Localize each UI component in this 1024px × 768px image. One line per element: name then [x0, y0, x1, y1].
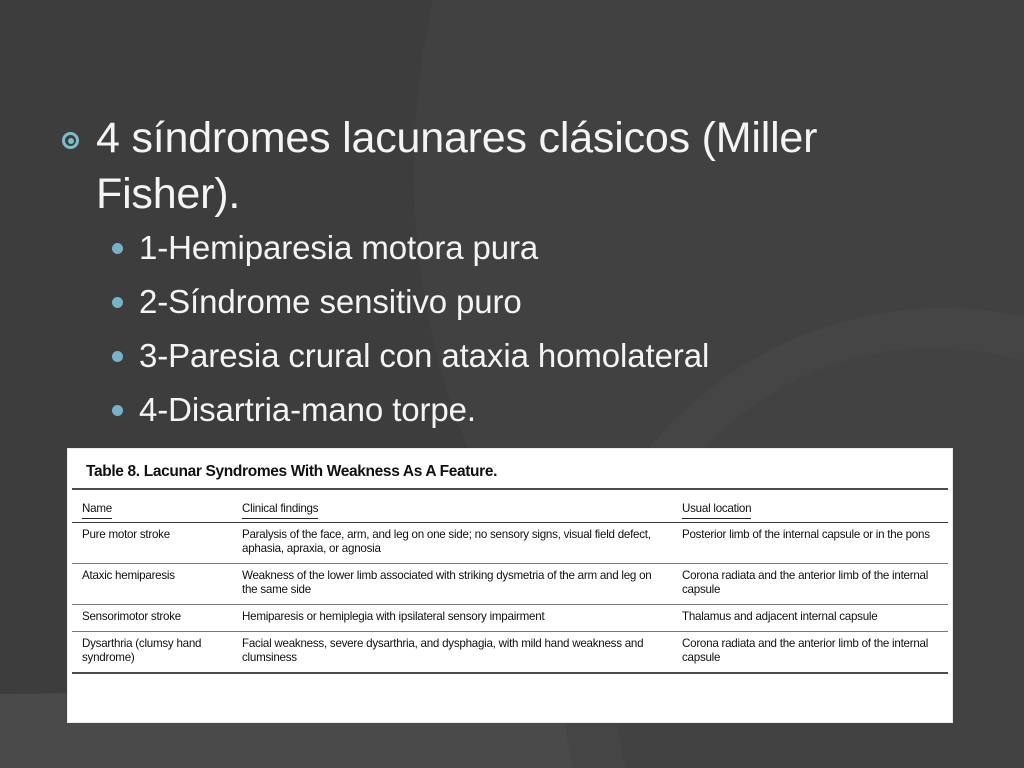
- cell-name: Dysarthria (clumsy hand syndrome): [72, 631, 232, 673]
- column-header-usual-location-label: Usual location: [682, 502, 751, 519]
- bullet-level2-label: 2-Síndrome sensitivo puro: [139, 280, 522, 324]
- cell-name: Pure motor stroke: [72, 522, 232, 563]
- list-item: 4-Disartria-mano torpe.: [112, 388, 932, 434]
- cell-name: Sensorimotor stroke: [72, 604, 232, 631]
- ring-bullet-icon: [62, 132, 79, 149]
- bullet-item-level1: 4 síndromes lacunares clásicos (Miller F…: [62, 110, 892, 222]
- bullet-level2-label: 1-Hemiparesia motora pura: [139, 226, 538, 270]
- cell-location: Thalamus and adjacent internal capsule: [672, 604, 948, 631]
- table-figure: Table 8. Lacunar Syndromes With Weakness…: [68, 449, 952, 722]
- cell-name: Ataxic hemiparesis: [72, 563, 232, 604]
- dot-bullet-icon: [112, 243, 123, 254]
- list-item: 2-Síndrome sensitivo puro: [112, 280, 932, 326]
- bullet-list-level2: 1-Hemiparesia motora pura 2-Síndrome sen…: [112, 226, 932, 442]
- cell-findings: Weakness of the lower limb associated wi…: [232, 563, 672, 604]
- bullet-level1-label: 4 síndromes lacunares clásicos (Miller F…: [96, 110, 892, 222]
- list-item: 1-Hemiparesia motora pura: [112, 226, 932, 272]
- background-bottom-band: [0, 716, 1024, 768]
- cell-location: Corona radiata and the anterior limb of …: [672, 563, 948, 604]
- dot-bullet-icon: [112, 405, 123, 416]
- table-header-row: Name Clinical findings Usual location: [72, 490, 948, 522]
- column-header-name-label: Name: [82, 502, 112, 519]
- dot-bullet-icon: [112, 297, 123, 308]
- column-header-clinical-findings: Clinical findings: [232, 490, 672, 522]
- table-row: Pure motor stroke Paralysis of the face,…: [72, 522, 948, 563]
- cell-findings: Hemiparesis or hemiplegia with ipsilater…: [232, 604, 672, 631]
- column-header-usual-location: Usual location: [672, 490, 948, 522]
- table-row: Sensorimotor stroke Hemiparesis or hemip…: [72, 604, 948, 631]
- table-caption: Table 8. Lacunar Syndromes With Weakness…: [72, 453, 948, 490]
- cell-findings: Paralysis of the face, arm, and leg on o…: [232, 522, 672, 563]
- table-row: Dysarthria (clumsy hand syndrome) Facial…: [72, 631, 948, 673]
- bullet-level2-label: 4-Disartria-mano torpe.: [139, 388, 476, 432]
- cell-location: Posterior limb of the internal capsule o…: [672, 522, 948, 563]
- list-item: 3-Paresia crural con ataxia homolateral: [112, 334, 932, 380]
- presentation-slide: 4 síndromes lacunares clásicos (Miller F…: [0, 0, 1024, 768]
- cell-findings: Facial weakness, severe dysarthria, and …: [232, 631, 672, 673]
- column-header-name: Name: [72, 490, 232, 522]
- table-row: Ataxic hemiparesis Weakness of the lower…: [72, 563, 948, 604]
- dot-bullet-icon: [112, 351, 123, 362]
- column-header-clinical-findings-label: Clinical findings: [242, 502, 318, 519]
- lacunar-syndromes-table: Name Clinical findings Usual location Pu…: [72, 490, 948, 674]
- bullet-level2-label: 3-Paresia crural con ataxia homolateral: [139, 334, 709, 378]
- cell-location: Corona radiata and the anterior limb of …: [672, 631, 948, 673]
